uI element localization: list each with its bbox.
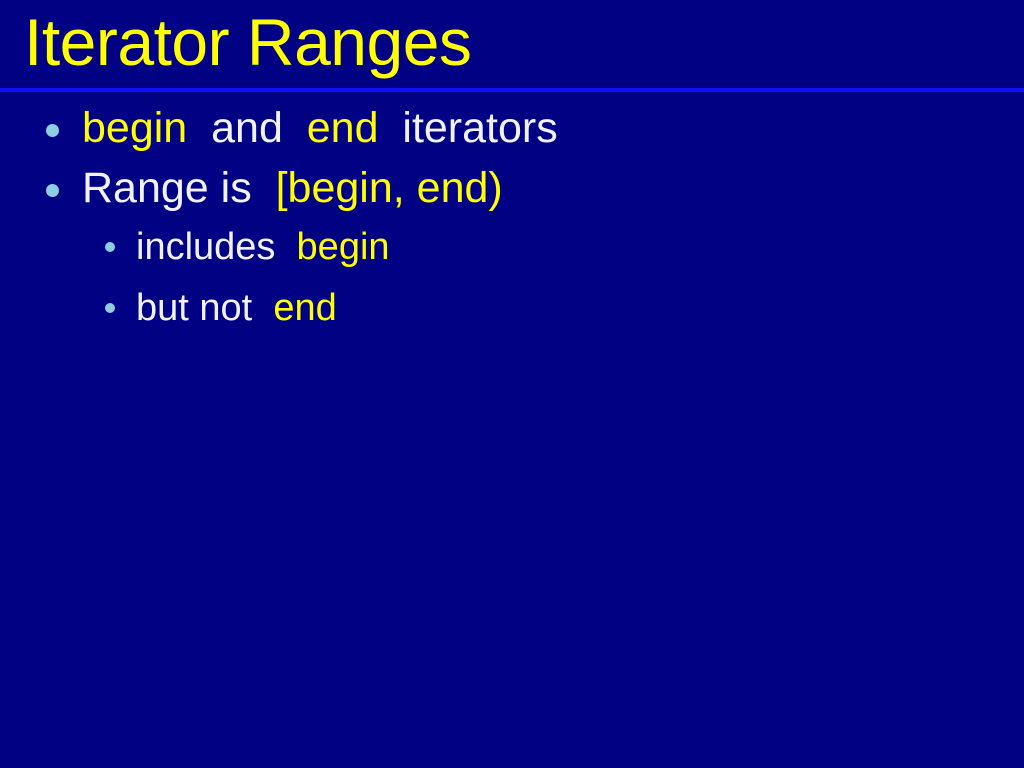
bullet-item: includes begin: [0, 220, 1024, 281]
title-divider-rule: [0, 88, 1024, 92]
slide-body: begin and end iteratorsRange is [begin, …: [0, 100, 1024, 342]
page-title: Iterator Ranges: [24, 2, 471, 82]
slide-title-area: Iterator Ranges: [0, 0, 1024, 88]
presentation-slide: Iterator Ranges begin and end iteratorsR…: [0, 0, 1024, 768]
code-term: end: [307, 104, 379, 152]
round-bullet-icon: [105, 242, 115, 252]
code-term: begin: [297, 226, 390, 268]
prose-text: includes: [136, 226, 297, 268]
round-bullet-icon: [46, 124, 59, 137]
bullet-text: begin and end iterators: [82, 100, 558, 156]
bullet-text: Range is [begin, end): [82, 160, 503, 216]
bullet-item: but not end: [0, 281, 1024, 342]
prose-text: and: [187, 104, 307, 152]
code-term: begin: [82, 104, 187, 152]
bullet-text: includes begin: [136, 220, 390, 274]
round-bullet-icon: [105, 303, 115, 313]
code-term: [begin, end): [276, 164, 503, 212]
bullet-text: but not end: [136, 281, 337, 335]
prose-text: iterators: [379, 104, 558, 152]
prose-text: Range is: [82, 164, 276, 212]
code-term: end: [273, 287, 336, 329]
bullet-item: Range is [begin, end): [0, 160, 1024, 220]
bullet-item: begin and end iterators: [0, 100, 1024, 160]
round-bullet-icon: [46, 184, 59, 197]
prose-text: but not: [136, 287, 273, 329]
